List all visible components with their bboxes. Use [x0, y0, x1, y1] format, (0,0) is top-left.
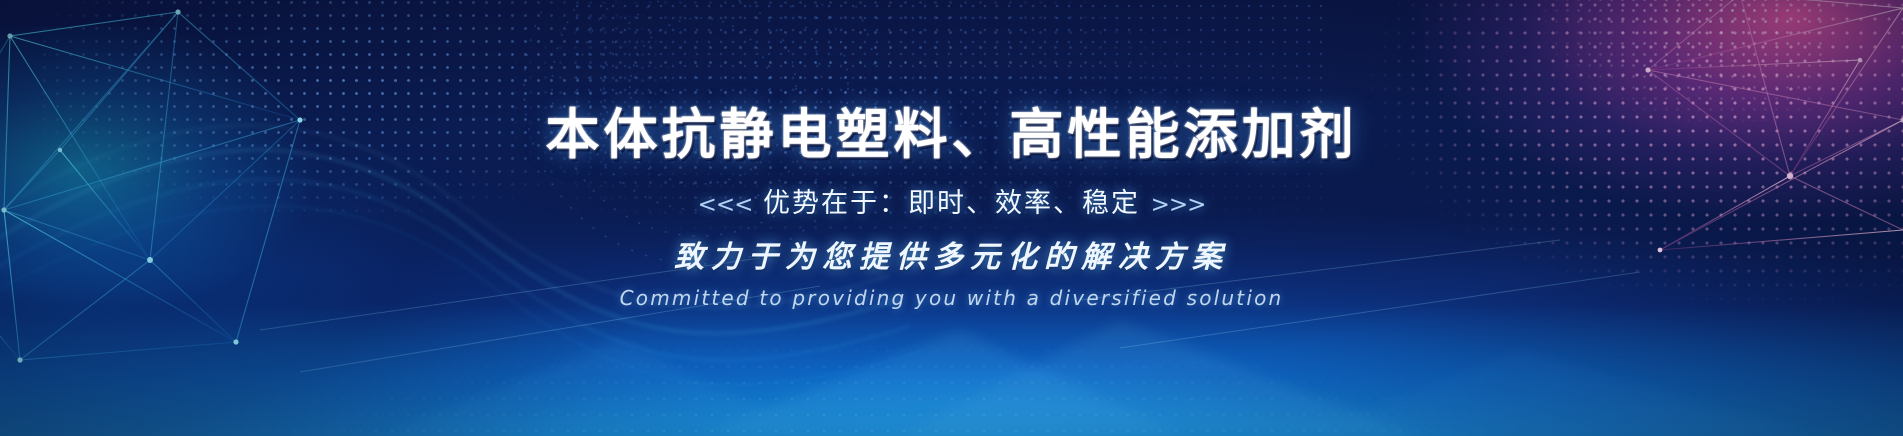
chevron-right-decoration: >>> — [1151, 192, 1206, 218]
chevron-left-decoration: <<< — [698, 192, 753, 218]
banner-title: 本体抗静电塑料、高性能添加剂 — [0, 108, 1903, 162]
banner-tagline: 致力于为您提供多元化的解决方案 — [0, 243, 1903, 273]
hero-banner: 本体抗静电塑料、高性能添加剂 <<< 优势在于：即时、效率、稳定 >>> 致力于… — [0, 0, 1903, 436]
banner-subtitle-text: 优势在于：即时、效率、稳定 — [763, 188, 1140, 219]
banner-text-block: 本体抗静电塑料、高性能添加剂 <<< 优势在于：即时、效率、稳定 >>> 致力于… — [0, 108, 1903, 308]
banner-subtitle: <<< 优势在于：即时、效率、稳定 >>> — [0, 190, 1903, 217]
banner-english-tagline: Committed to providing you with a divers… — [0, 288, 1903, 308]
